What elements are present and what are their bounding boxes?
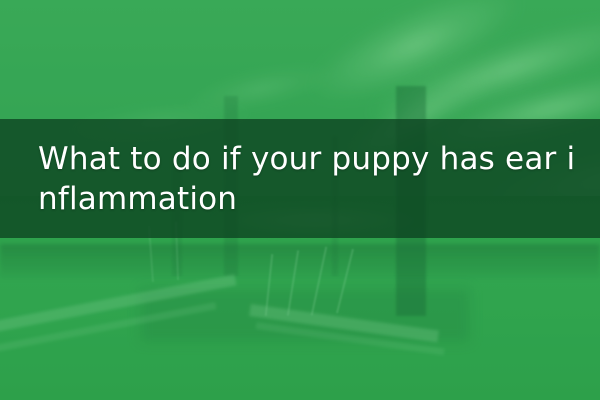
far-shore [0, 244, 600, 278]
page-title: What to do if your puppy has ear inflamm… [38, 139, 582, 219]
cloud-wisp-icon [178, 56, 342, 123]
title-overlay-band: What to do if your puppy has ear inflamm… [0, 119, 600, 238]
article-thumbnail-card[interactable]: What to do if your puppy has ear inflamm… [0, 0, 600, 400]
